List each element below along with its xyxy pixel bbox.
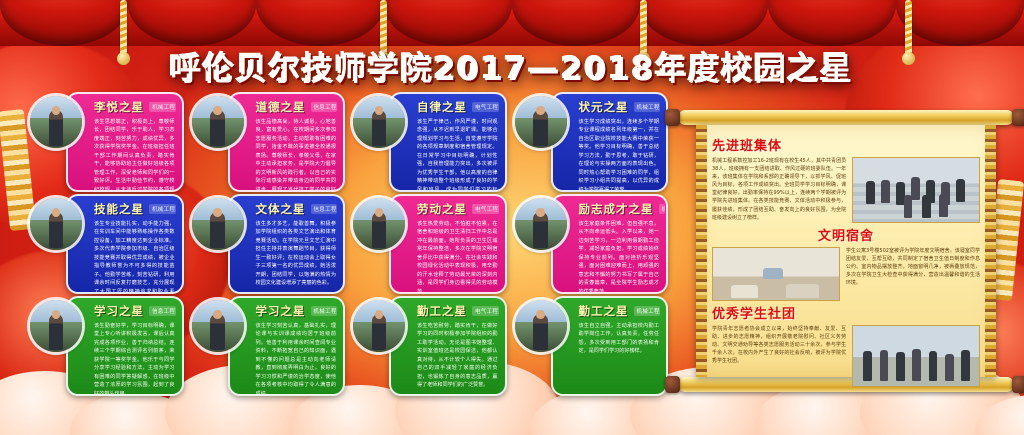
star-title: 勤工之星 xyxy=(579,303,629,319)
star-card-caption: 状元之星 机械工程系 焊接技术 16-1班 刘洋 xyxy=(553,94,667,117)
star-meta: 机械工程系 数控加工 17-4班 郭亮 xyxy=(634,306,661,316)
star-card[interactable]: 技能之星 机械工程系 数控加工 16-2班 赵鹏 该生专业技能扎实，动手能力强，… xyxy=(28,194,184,294)
student-photo xyxy=(515,96,567,148)
star-title: 文体之星 xyxy=(256,201,306,217)
star-card[interactable]: 勤工之星 机械工程系 数控加工 17-4班 郭亮 该生自立自强，主动承担校内勤工… xyxy=(513,296,669,396)
star-card-caption: 自律之星 电气工程系 电气自动化 16-2班 张磊 xyxy=(391,94,505,117)
star-title: 自律之星 xyxy=(417,99,467,115)
section-heading: 优秀学生社团 xyxy=(712,303,980,322)
star-title: 道德之星 xyxy=(256,99,306,115)
star-title: 学习之星 xyxy=(256,303,306,319)
class-group-photo xyxy=(852,157,980,223)
section-text-col: 学生公寓3号楼502室被评为学院年度文明宿舍。该寝室同学团结友爱，互帮互助，共同… xyxy=(846,247,980,301)
student-photo xyxy=(353,96,405,148)
scroll-knob-icon xyxy=(665,109,680,126)
star-title: 学习之星 xyxy=(94,303,144,319)
star-description: 该生品德高尚，待人诚恳，心地善良，富有爱心。在校期间多次参加志愿服务活动，主动帮… xyxy=(230,117,344,192)
student-photo xyxy=(192,300,244,352)
poster-title: 呼伦贝尔技师学院2017—2018年度校园之星 xyxy=(170,44,854,89)
star-card-caption: 学习之星 信息工程系 计算机应用 16-1班 马强 xyxy=(68,298,182,321)
student-photo xyxy=(192,96,244,148)
star-card[interactable]: 励志成才之星 机械工程系 机电一体化 16-4班 陈雪 该生家庭条件困难，但自强… xyxy=(513,194,669,294)
student-photo xyxy=(515,198,567,250)
section-text-col: 机械工程系数控加工16-2班现有在校生45人，其中共青团员38人，班级拥有一支团… xyxy=(712,157,846,223)
star-card-row: 学习之星 信息工程系 计算机应用 16-1班 马强 该生勤奋好学，学习目标明确，… xyxy=(28,296,668,396)
star-description: 该生吃苦耐劳，踏实肯干，在做好学习的同时积极参加学院组织的勤工助学活动。无论是图… xyxy=(391,321,505,394)
star-card-body: 劳动之星 电气工程系 维修电工 17-3班 周敏 该生热爱劳动，不怕脏不怕累，在… xyxy=(389,194,507,294)
star-card-caption: 技能之星 机械工程系 数控加工 16-2班 赵鹏 xyxy=(68,196,182,219)
scroll-knob-icon xyxy=(1012,109,1024,126)
star-card[interactable]: 自律之星 电气工程系 电气自动化 16-2班 张磊 该生严于律己，作风严谨，时间… xyxy=(351,92,507,192)
section-body: 机械工程系数控加工16-2班现有在校生45人，其中共青团员38人，班级拥有一支团… xyxy=(712,157,980,223)
poster-title-bar: 呼伦贝尔技师学院2017—2018年度校园之星 xyxy=(0,44,1024,89)
star-card[interactable]: 劳动之星 电气工程系 维修电工 17-3班 周敏 该生热爱劳动，不怕脏不怕累，在… xyxy=(351,194,507,294)
section-heading: 文明宿舍 xyxy=(712,225,980,244)
star-title: 励志成才之星 xyxy=(579,201,654,217)
star-meta: 机械工程系 数控加工 16-2班 赵鹏 xyxy=(149,204,176,214)
star-title: 勤工之星 xyxy=(417,303,467,319)
section-text: 机械工程系数控加工16-2班现有在校生45人，其中共青团员38人，班级拥有一支团… xyxy=(712,157,846,222)
star-card-body: 励志成才之星 机械工程系 机电一体化 16-4班 陈雪 该生家庭条件困难，但自强… xyxy=(551,194,669,294)
star-title: 状元之星 xyxy=(579,99,629,115)
star-meta: 电气工程系 电气自动化 17-2班 吴涛 xyxy=(472,306,499,316)
section-heading: 先进班集体 xyxy=(712,135,980,154)
star-card-body: 李悦之星 机械工程系 数控加工 16-3班 李悦 该生思想端正，积极向上，尊敬师… xyxy=(66,92,184,192)
scroll-paper: 先进班集体 机械工程系数控加工16-2班现有在校生45人，其中共青团员38人，班… xyxy=(696,125,996,377)
star-meta: 机械工程系 焊接技术 17-1班 李强 xyxy=(311,306,338,316)
star-card-caption: 勤工之星 机械工程系 数控加工 17-4班 郭亮 xyxy=(553,298,667,321)
section-photo-col xyxy=(852,325,980,387)
star-card-row: 技能之星 机械工程系 数控加工 16-2班 赵鹏 该生专业技能扎实，动手能力强，… xyxy=(28,194,668,294)
curtain-swag xyxy=(768,0,896,46)
star-title: 李悦之星 xyxy=(94,99,144,115)
star-card[interactable]: 学习之星 信息工程系 计算机应用 16-1班 马强 该生勤奋好学，学习目标明确，… xyxy=(28,296,184,396)
star-description: 该生自立自强，主动承担校内勤工助学岗位工作，认真负责，任劳任怨，多次受到用工部门… xyxy=(553,321,667,360)
scroll-section-student-club: 优秀学生社团 学院青年志愿者协会成立以来，始终坚持奉献、友爱、互助、进步的志愿精… xyxy=(712,303,980,387)
star-meta: 信息工程系 计算机网络 17-2班 孙倩 xyxy=(311,204,338,214)
curtain-swag xyxy=(512,0,640,46)
section-body: 学院青年志愿者协会成立以来，始终坚持奉献、友爱、互助、进步的志愿精神，组织开展敬… xyxy=(712,325,980,387)
star-description: 该生热爱劳动，不怕脏不怕累，在宿舍和班级的卫生清扫工作中总是冲在最前面。她所负责… xyxy=(391,219,505,294)
star-card-body: 自律之星 电气工程系 电气自动化 16-2班 张磊 该生严于律己，作风严谨，时间… xyxy=(389,92,507,192)
student-photo xyxy=(30,96,82,148)
star-card[interactable]: 文体之星 信息工程系 计算机网络 17-2班 孙倩 该生多才多艺，能歌善舞，积极… xyxy=(190,194,346,294)
star-meta: 信息工程系 计算机应用 17-1班 王芳 xyxy=(311,102,338,112)
star-description: 该生家庭条件困难，但自强不息，从不向命运低头。入学以来，她一边刻苦学习，一边利用… xyxy=(553,219,667,294)
star-title: 技能之星 xyxy=(94,201,144,217)
curtain-swag xyxy=(640,0,768,46)
scroll-border-left xyxy=(696,125,707,377)
star-card-caption: 李悦之星 机械工程系 数控加工 16-3班 李悦 xyxy=(68,94,182,117)
star-card-body: 学习之星 机械工程系 焊接技术 17-1班 李强 该生学习刻苦认真，基础扎实，理… xyxy=(228,296,346,396)
curtain-swag xyxy=(0,0,128,46)
star-cards-grid: 李悦之星 机械工程系 数控加工 16-3班 李悦 该生思想端正，积极向上，尊敬师… xyxy=(28,92,668,398)
section-text-col: 学院青年志愿者协会成立以来，始终坚持奉献、友爱、互助、进步的志愿精神，组织开展敬… xyxy=(712,325,846,387)
star-card-body: 文体之星 信息工程系 计算机网络 17-2班 孙倩 该生多才多艺，能歌善舞，积极… xyxy=(228,194,346,294)
scroll-panel: 先进班集体 机械工程系数控加工16-2班现有在校生45人，其中共青团员38人，班… xyxy=(686,110,1006,392)
curtain-swag xyxy=(384,0,512,46)
student-club-photo xyxy=(852,325,980,387)
scroll-section-advanced-class: 先进班集体 机械工程系数控加工16-2班现有在校生45人，其中共青团员38人，班… xyxy=(712,135,980,223)
poster-canvas: 呼伦贝尔技师学院2017—2018年度校园之星 李悦之星 机械工程系 数控加工 … xyxy=(0,0,1024,435)
dormitory-photo xyxy=(712,247,840,301)
student-photo xyxy=(30,198,82,250)
star-card-row: 李悦之星 机械工程系 数控加工 16-3班 李悦 该生思想端正，积极向上，尊敬师… xyxy=(28,92,668,192)
star-description: 该生学习成绩突出，连续多个学期专业课程成绩名列年级第一，并在自治区职业院校技能大… xyxy=(553,117,667,192)
star-card-caption: 励志成才之星 机械工程系 机电一体化 16-4班 陈雪 xyxy=(553,196,667,219)
scroll-knob-icon xyxy=(1012,376,1024,393)
curtain-swags xyxy=(0,0,1024,46)
star-meta: 机械工程系 机电一体化 16-4班 陈雪 xyxy=(659,204,665,214)
star-card-caption: 道德之星 信息工程系 计算机应用 17-1班 王芳 xyxy=(230,94,344,117)
student-photo xyxy=(515,300,567,352)
scroll-knob-icon xyxy=(665,376,680,393)
curtain-swag xyxy=(128,0,256,46)
section-photo-col xyxy=(852,157,980,223)
star-meta: 电气工程系 维修电工 17-3班 周敏 xyxy=(472,204,499,214)
student-photo xyxy=(353,198,405,250)
star-card-body: 勤工之星 电气工程系 电气自动化 17-2班 吴涛 该生吃苦耐劳，踏实肯干，在做… xyxy=(389,296,507,396)
star-title: 劳动之星 xyxy=(417,201,467,217)
scroll-section-civilized-dorm: 文明宿舍 学生公寓3号楼502室被评为学院年度文明宿舍。该寝室同学团结友爱，互帮… xyxy=(712,225,980,301)
star-card[interactable]: 学习之星 机械工程系 焊接技术 17-1班 李强 该生学习刻苦认真，基础扎实，理… xyxy=(190,296,346,396)
star-card-caption: 勤工之星 电气工程系 电气自动化 17-2班 吴涛 xyxy=(391,298,505,321)
star-meta: 机械工程系 焊接技术 16-1班 刘洋 xyxy=(634,102,661,112)
section-text: 学院青年志愿者协会成立以来，始终坚持奉献、友爱、互助、进步的志愿精神，组织开展敬… xyxy=(712,325,846,365)
section-text: 学生公寓3号楼502室被评为学院年度文明宿舍。该寝室同学团结友爱，互帮互助，共同… xyxy=(846,247,980,287)
star-meta: 信息工程系 计算机应用 16-1班 马强 xyxy=(149,306,176,316)
star-description: 该生专业技能扎实，动手能力强，在实训车间中能够熟练操作各类数控设备，加工精度达到… xyxy=(68,219,182,294)
star-card-caption: 学习之星 机械工程系 焊接技术 17-1班 李强 xyxy=(230,298,344,321)
star-card[interactable]: 道德之星 信息工程系 计算机应用 17-1班 王芳 该生品德高尚，待人诚恳，心地… xyxy=(190,92,346,192)
student-photo xyxy=(353,300,405,352)
student-photo xyxy=(192,198,244,250)
star-description: 该生严于律己，作风严谨，时间观念强，从不迟到早退旷课。能够合理规划学习与生活，自… xyxy=(391,117,505,192)
curtain-swag xyxy=(256,0,384,46)
star-card[interactable]: 勤工之星 电气工程系 电气自动化 17-2班 吴涛 该生吃苦耐劳，踏实肯干，在做… xyxy=(351,296,507,396)
section-photo-col xyxy=(712,247,840,301)
scroll-content: 先进班集体 机械工程系数控加工16-2班现有在校生45人，其中共青团员38人，班… xyxy=(712,133,980,371)
student-photo xyxy=(30,300,82,352)
star-description: 该生学习刻苦认真，基础扎实，理论课与实训课成绩均居于班级前列。他善于利用课余时间… xyxy=(230,321,344,396)
star-card[interactable]: 李悦之星 机械工程系 数控加工 16-3班 李悦 该生思想端正，积极向上，尊敬师… xyxy=(28,92,184,192)
scroll-rod-top xyxy=(678,110,1014,125)
star-card[interactable]: 状元之星 机械工程系 焊接技术 16-1班 刘洋 该生学习成绩突出，连续多个学期… xyxy=(513,92,669,192)
star-card-body: 勤工之星 机械工程系 数控加工 17-4班 郭亮 该生自立自强，主动承担校内勤工… xyxy=(551,296,669,396)
star-card-body: 道德之星 信息工程系 计算机应用 17-1班 王芳 该生品德高尚，待人诚恳，心地… xyxy=(228,92,346,192)
star-card-body: 状元之星 机械工程系 焊接技术 16-1班 刘洋 该生学习成绩突出，连续多个学期… xyxy=(551,92,669,192)
star-card-body: 技能之星 机械工程系 数控加工 16-2班 赵鹏 该生专业技能扎实，动手能力强，… xyxy=(66,194,184,294)
star-meta: 机械工程系 数控加工 16-3班 李悦 xyxy=(149,102,176,112)
star-card-caption: 劳动之星 电气工程系 维修电工 17-3班 周敏 xyxy=(391,196,505,219)
red-curtain-banner xyxy=(0,0,1024,46)
star-description: 该生多才多艺，能歌善舞，积极参加学院组织的各类文艺演出和体育竞赛活动。在学院元旦… xyxy=(230,219,344,292)
curtain-swag xyxy=(896,0,1024,46)
star-card-body: 学习之星 信息工程系 计算机应用 16-1班 马强 该生勤奋好学，学习目标明确，… xyxy=(66,296,184,396)
star-description: 该生思想端正，积极向上，尊敬师长，团结同学，乐于助人，学习态度端正，刻苦努力，成… xyxy=(68,117,182,192)
star-meta: 电气工程系 电气自动化 16-2班 张磊 xyxy=(472,102,499,112)
star-description: 该生勤奋好学，学习目标明确，课堂上专心听讲积极发言，课后认真完成各项作业，善于归… xyxy=(68,321,182,396)
scroll-border-right xyxy=(985,125,996,377)
star-card-caption: 文体之星 信息工程系 计算机网络 17-2班 孙倩 xyxy=(230,196,344,219)
section-body: 学生公寓3号楼502室被评为学院年度文明宿舍。该寝室同学团结友爱，互帮互助，共同… xyxy=(712,247,980,301)
